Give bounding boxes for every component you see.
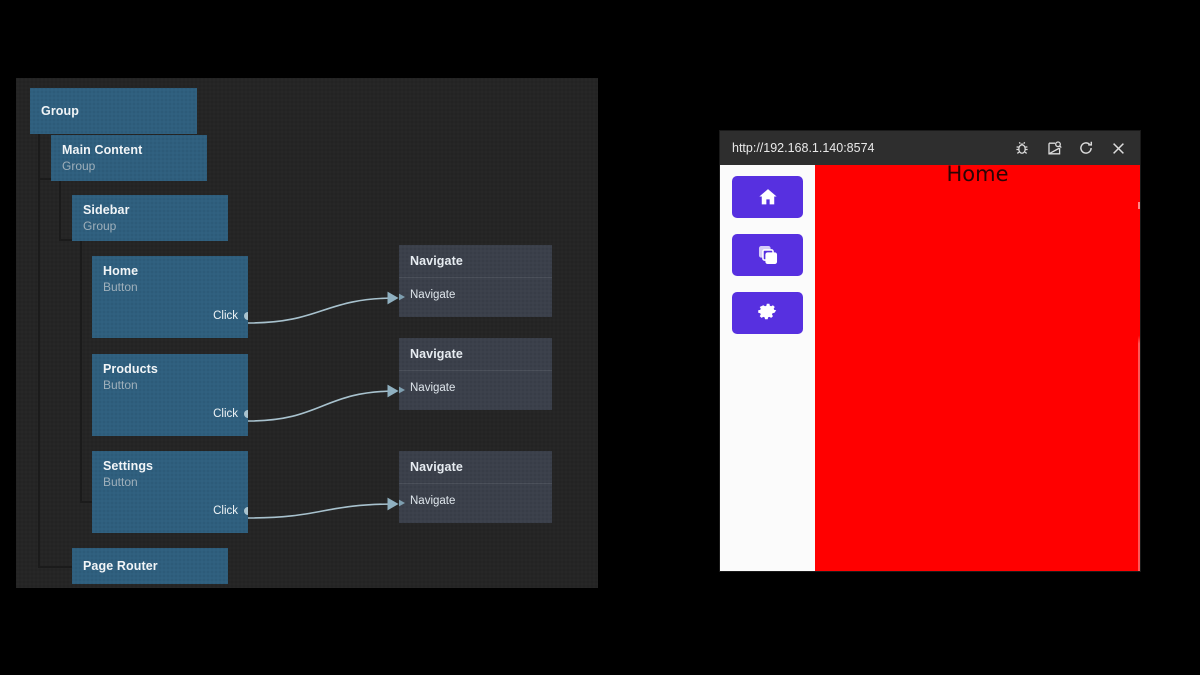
node-page-router[interactable]: Page Router <box>72 548 228 584</box>
screen: GroupMain ContentGroupSidebarGroupHomeBu… <box>0 0 1200 675</box>
node-group[interactable]: Group <box>30 88 197 134</box>
node-title: Navigate <box>410 460 463 474</box>
port-dot[interactable] <box>244 312 248 320</box>
tree-connector <box>59 239 73 241</box>
inspect-icon[interactable] <box>1038 131 1070 165</box>
output-port[interactable]: Click <box>213 407 248 421</box>
browser-titlebar: http://192.168.1.140:8574 <box>720 131 1140 165</box>
tree-connector <box>38 134 40 180</box>
input-port-arrow-icon[interactable] <box>399 499 405 507</box>
port-label: Click <box>213 408 238 420</box>
node-title: Products <box>103 362 158 376</box>
node-title: Navigate <box>410 347 463 361</box>
app-viewport: Home <box>720 165 1140 571</box>
node-title: Settings <box>103 459 153 473</box>
node-title: Sidebar <box>83 203 130 217</box>
port-label: Click <box>213 505 238 517</box>
output-port[interactable]: Click <box>213 504 248 518</box>
node-navigate[interactable]: NavigateNavigate <box>399 451 552 523</box>
tree-connector <box>38 566 72 568</box>
wire[interactable] <box>248 504 397 518</box>
node-divider <box>399 277 552 278</box>
port-dot[interactable] <box>244 410 248 418</box>
page-title: Home <box>815 162 1140 186</box>
node-main-content[interactable]: Main ContentGroup <box>51 135 207 181</box>
node-settings[interactable]: SettingsButtonClick <box>92 451 248 533</box>
node-divider <box>399 370 552 371</box>
reload-icon[interactable] <box>1070 131 1102 165</box>
wire[interactable] <box>248 298 397 323</box>
node-title: Page Router <box>83 559 158 573</box>
node-navigate[interactable]: NavigateNavigate <box>399 338 552 410</box>
browser-window[interactable]: http://192.168.1.140:8574 <box>720 131 1140 571</box>
tree-connector <box>38 178 40 568</box>
input-port-arrow-icon[interactable] <box>399 386 405 394</box>
debug-icon[interactable] <box>1006 131 1038 165</box>
scrollbar-thumb[interactable] <box>1138 202 1140 209</box>
node-title: Navigate <box>410 254 463 268</box>
node-divider <box>399 483 552 484</box>
wire[interactable] <box>248 391 397 421</box>
output-port[interactable]: Click <box>213 309 248 323</box>
scrollbar-track[interactable] <box>1138 165 1140 571</box>
url-text[interactable]: http://192.168.1.140:8574 <box>732 141 1006 155</box>
tree-connector <box>38 178 52 180</box>
settings-nav-button[interactable] <box>732 292 803 334</box>
app-content-area: Home <box>815 165 1140 571</box>
node-subtitle: Button <box>103 475 138 489</box>
input-port-label: Navigate <box>410 495 455 507</box>
input-port-label: Navigate <box>410 289 455 301</box>
home-nav-button[interactable] <box>732 176 803 218</box>
port-label: Click <box>213 310 238 322</box>
node-title: Group <box>41 104 79 118</box>
node-subtitle: Group <box>62 159 95 173</box>
node-sidebar[interactable]: SidebarGroup <box>72 195 228 241</box>
input-port-arrow-icon[interactable] <box>399 293 405 301</box>
node-editor-canvas[interactable]: GroupMain ContentGroupSidebarGroupHomeBu… <box>16 78 598 588</box>
port-dot[interactable] <box>244 507 248 515</box>
node-subtitle: Button <box>103 280 138 294</box>
node-home[interactable]: HomeButtonClick <box>92 256 248 338</box>
input-port-label: Navigate <box>410 382 455 394</box>
node-navigate[interactable]: NavigateNavigate <box>399 245 552 317</box>
close-icon[interactable] <box>1102 131 1134 165</box>
node-products[interactable]: ProductsButtonClick <box>92 354 248 436</box>
tree-connector <box>80 241 82 503</box>
node-title: Home <box>103 264 138 278</box>
node-title: Main Content <box>62 143 142 157</box>
tree-connector <box>59 181 61 241</box>
node-subtitle: Group <box>83 219 116 233</box>
products-nav-button[interactable] <box>732 234 803 276</box>
node-subtitle: Button <box>103 378 138 392</box>
app-sidebar <box>720 165 815 571</box>
